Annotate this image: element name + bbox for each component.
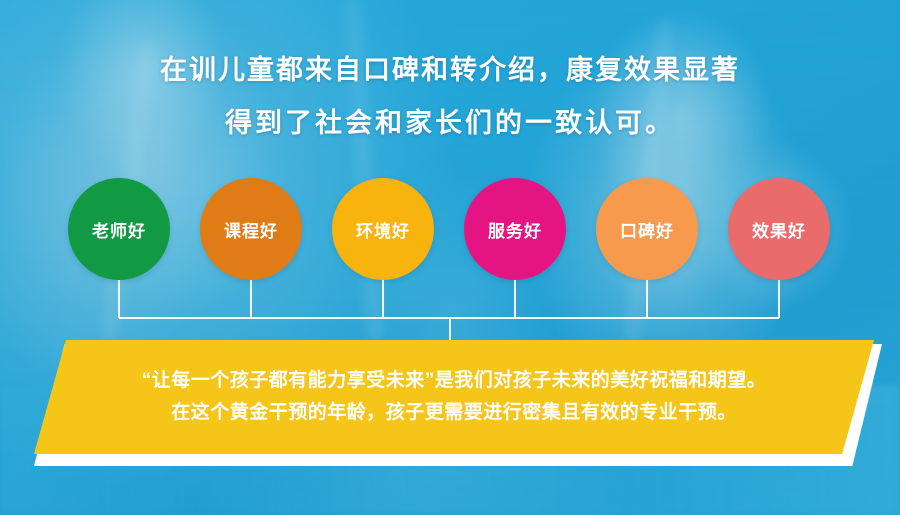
- badge-label: 服务好: [488, 217, 542, 242]
- badge-circle-6[interactable]: 效果好: [728, 178, 830, 280]
- badge-label: 老师好: [92, 217, 146, 242]
- banner-text: “让每一个孩子都有能力享受未来”是我们对孩子未来的美好祝福和期望。 在这个黄金干…: [34, 340, 874, 454]
- badge-label: 口碑好: [620, 217, 674, 242]
- promo-poster: 在训儿童都来自口碑和转介绍，康复效果显著 得到了社会和家长们的一致认可。 老师好…: [0, 0, 900, 515]
- badge-label: 课程好: [224, 217, 278, 242]
- banner-line-1: “让每一个孩子都有能力享受未来”是我们对孩子未来的美好祝福和期望。: [142, 365, 767, 397]
- headline-line-1: 在训儿童都来自口碑和转介绍，康复效果显著: [0, 44, 900, 97]
- badge-circle-2[interactable]: 课程好: [200, 178, 302, 280]
- badge-label: 环境好: [356, 217, 410, 242]
- badge-circle-1[interactable]: 老师好: [68, 178, 170, 280]
- badge-circle-3[interactable]: 环境好: [332, 178, 434, 280]
- badge-row: 老师好课程好环境好服务好口碑好效果好: [0, 178, 900, 283]
- page-title: 在训儿童都来自口碑和转介绍，康复效果显著 得到了社会和家长们的一致认可。: [0, 44, 900, 150]
- badge-circle-4[interactable]: 服务好: [464, 178, 566, 280]
- badge-circle-5[interactable]: 口碑好: [596, 178, 698, 280]
- headline-line-2: 得到了社会和家长们的一致认可。: [0, 97, 900, 150]
- badge-label: 效果好: [752, 217, 806, 242]
- banner-line-2: 在这个黄金干预的年龄，孩子更需要进行密集且有效的专业干预。: [171, 397, 737, 429]
